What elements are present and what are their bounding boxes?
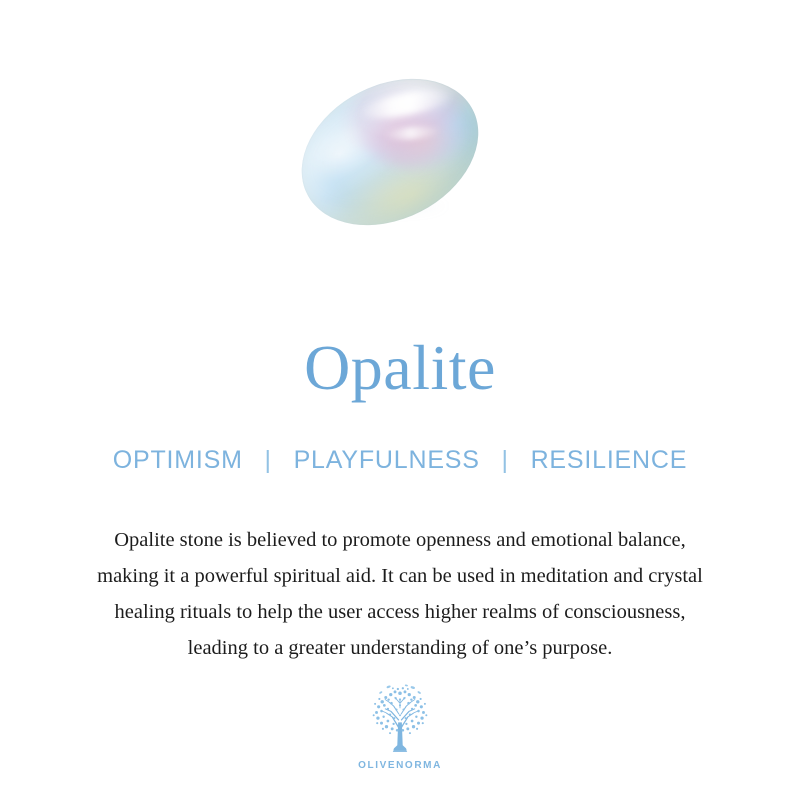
- opalite-gemstone-image: [297, 85, 483, 219]
- keyword-separator-2: |: [488, 446, 523, 474]
- brand-logo: OLIVENORMA: [0, 684, 800, 771]
- gemstone-body: [277, 50, 504, 254]
- description-paragraph: Opalite stone is believed to promote ope…: [22, 522, 778, 666]
- description-line: making it a powerful spiritual aid. It c…: [22, 558, 778, 594]
- keyword-separator-1: |: [251, 446, 286, 474]
- hero-image-area: [0, 0, 800, 300]
- tree-icon: [364, 684, 436, 758]
- description-line: Opalite stone is believed to promote ope…: [22, 522, 778, 558]
- page-title: Opalite: [0, 332, 800, 404]
- keyword-list: OPTIMISM | PLAYFULNESS | RESILIENCE: [0, 444, 800, 476]
- keyword-playfulness: PLAYFULNESS: [294, 446, 480, 474]
- description-line: leading to a greater understanding of on…: [22, 630, 778, 666]
- keyword-optimism: OPTIMISM: [113, 446, 243, 474]
- description-line: healing rituals to help the user access …: [22, 594, 778, 630]
- opalite-info-card: Opalite OPTIMISM | PLAYFULNESS | RESILIE…: [0, 0, 800, 800]
- brand-name: OLIVENORMA: [0, 760, 800, 771]
- keyword-resilience: RESILIENCE: [531, 446, 688, 474]
